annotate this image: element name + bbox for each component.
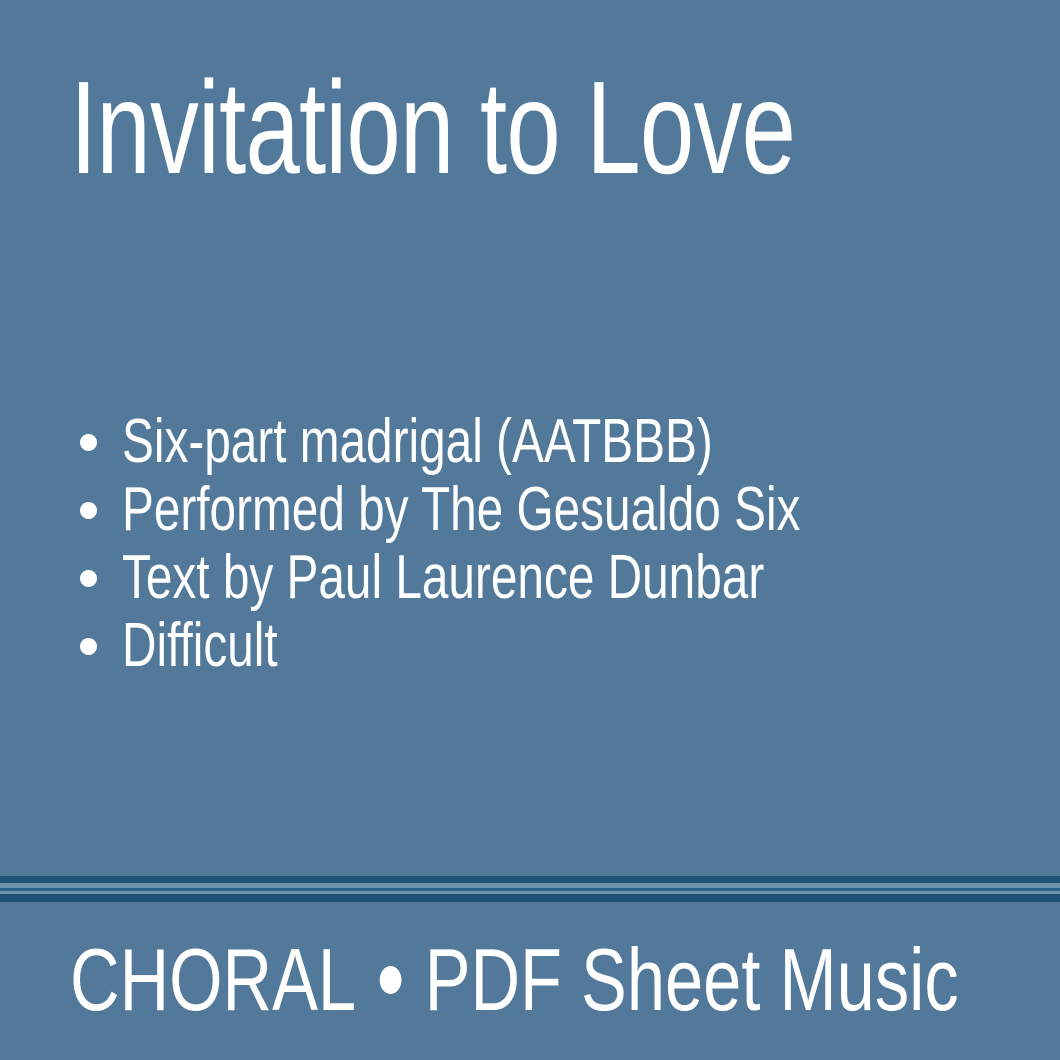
bullet-separator-icon (379, 966, 401, 994)
list-item-label: Six-part madrigal (AATBBB) (122, 408, 713, 476)
divider-stripe (0, 894, 1060, 902)
list-item: Text by Paul Laurence Dunbar (70, 544, 1030, 612)
detail-list: Six-part madrigal (AATBBB) Performed by … (70, 408, 1030, 680)
list-item-label: Difficult (122, 612, 278, 680)
list-item-label: Performed by The Gesualdo Six (122, 476, 800, 544)
divider (0, 874, 1060, 902)
product-thumbnail-card: Invitation to Love Six-part madrigal (AA… (0, 0, 1060, 1060)
footer-format-label: PDF Sheet Music (425, 930, 959, 1030)
bullet-icon (80, 638, 97, 655)
bullet-icon (80, 570, 97, 587)
divider-stripe (0, 876, 1060, 883)
list-item: Six-part madrigal (AATBBB) (70, 408, 1030, 476)
footer-bar: CHORAL PDF Sheet Music (70, 930, 1050, 1030)
list-item: Performed by The Gesualdo Six (70, 476, 1030, 544)
bullet-icon (80, 434, 97, 451)
bullet-icon (80, 502, 97, 519)
page-title: Invitation to Love (70, 62, 758, 194)
footer-category-label: CHORAL (70, 930, 356, 1030)
footer-content: CHORAL PDF Sheet Music (70, 930, 959, 1030)
list-item: Difficult (70, 612, 1030, 680)
list-item-label: Text by Paul Laurence Dunbar (122, 544, 764, 612)
